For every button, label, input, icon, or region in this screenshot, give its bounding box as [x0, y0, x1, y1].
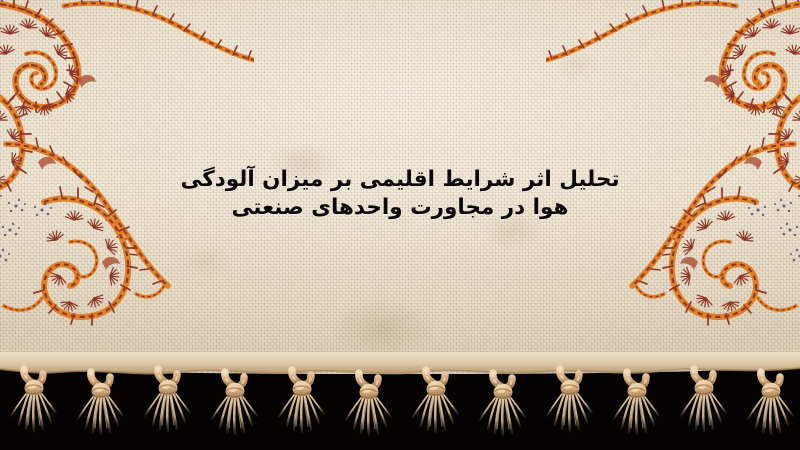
presentation-slide: تحلیل اثر شرایط اقلیمی بر میزان آلودگی ه…	[0, 0, 800, 450]
title-line-1: تحلیل اثر شرایط اقلیمی بر میزان آلودگی	[180, 166, 620, 194]
slide-title: تحلیل اثر شرایط اقلیمی بر میزان آلودگی ه…	[0, 166, 800, 222]
title-line-2: هوا در مجاورت واحدهای صنعتی	[180, 194, 620, 222]
